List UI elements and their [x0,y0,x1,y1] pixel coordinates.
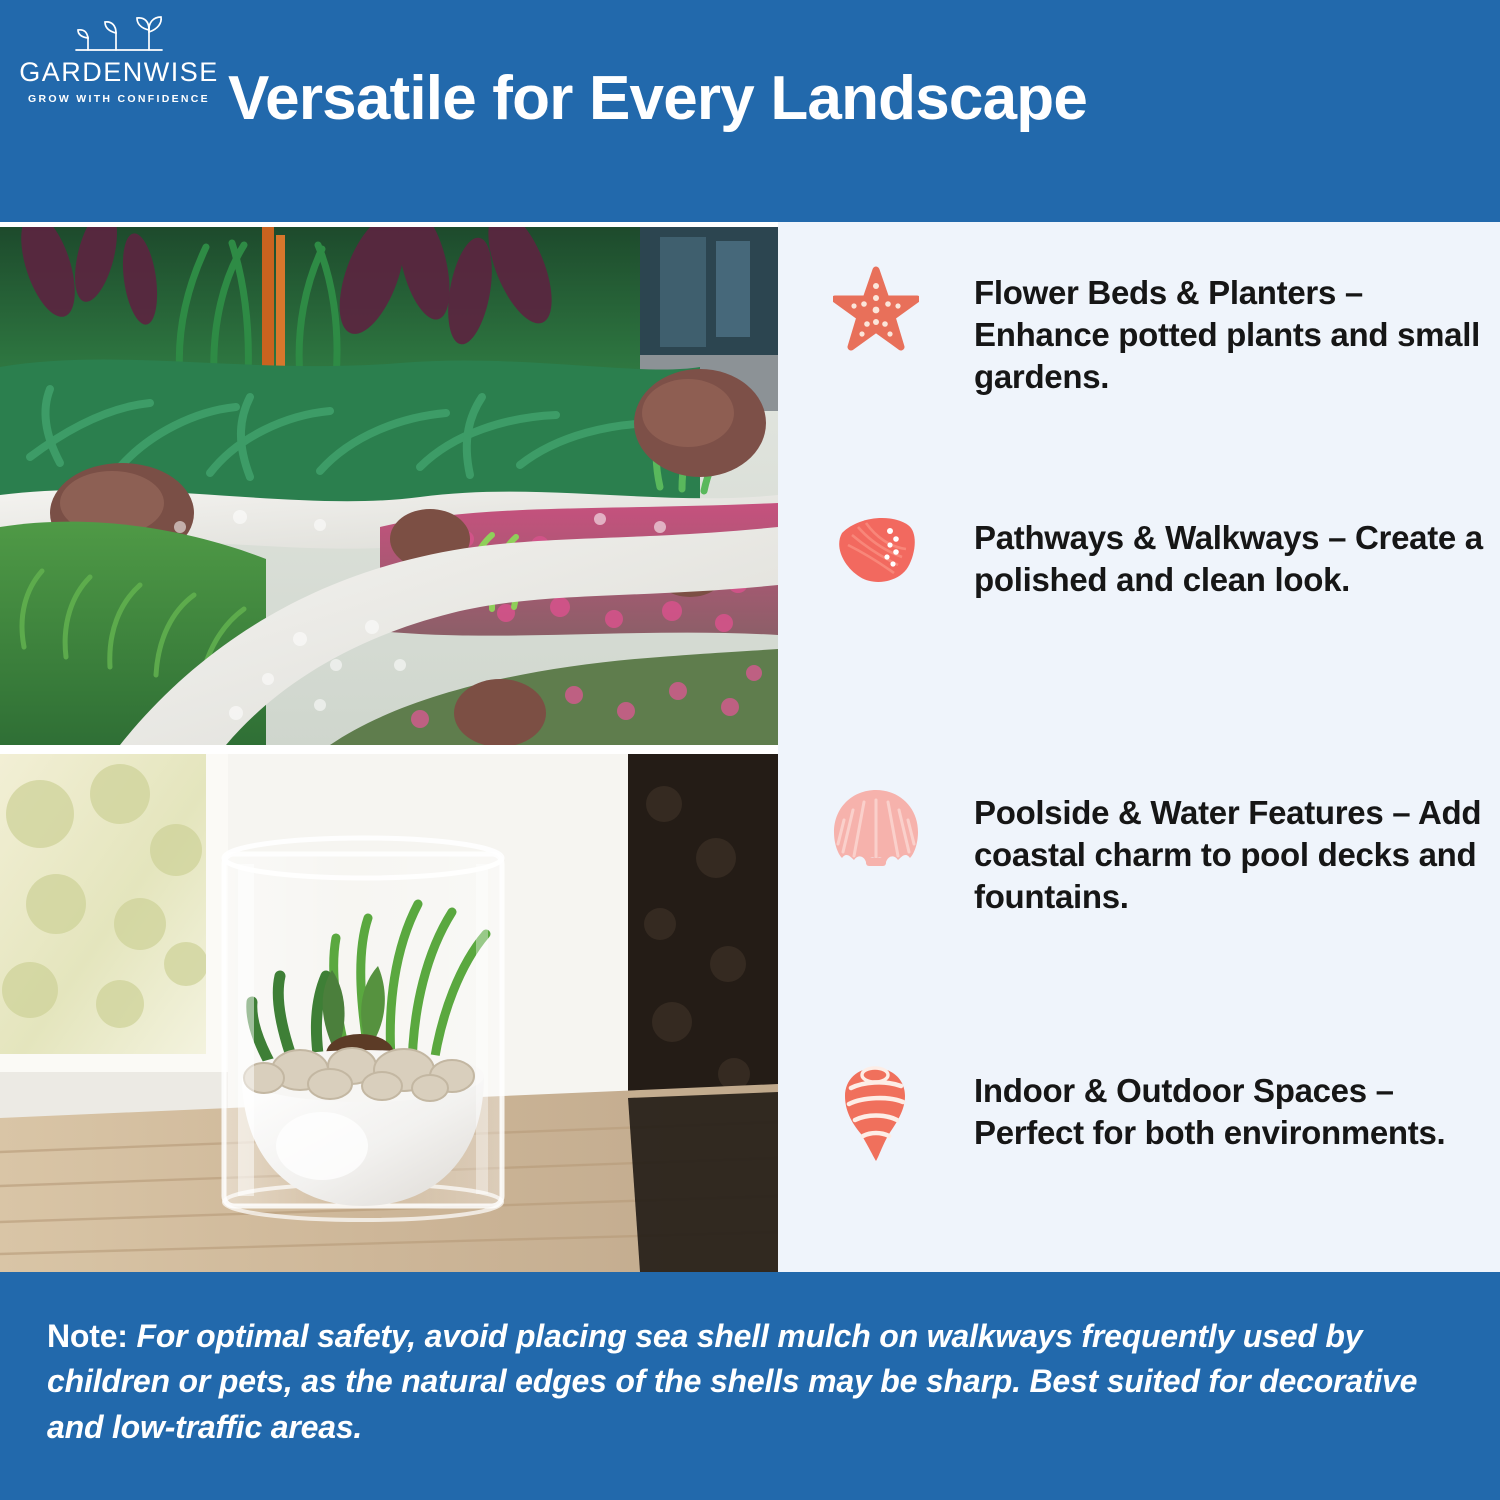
indoor-planter-photo [0,754,778,1272]
header-bar: GARDENWISE GROW WITH CONFIDENCE Versatil… [0,0,1500,222]
note-body: For optimal safety, avoid placing sea sh… [47,1318,1417,1445]
conch-shell-icon [828,1060,924,1164]
content-area: Flower Beds & Planters – Enhance potted … [0,222,1500,1272]
list-item-label: Poolside & Water Features – Add coastal … [924,782,1488,919]
brand-tagline: GROW WITH CONFIDENCE [28,93,210,105]
list-item: Pathways & Walkways – Create a polished … [828,507,1488,611]
brand-logo: GARDENWISE GROW WITH CONFIDENCE [14,14,224,106]
list-item: Poolside & Water Features – Add coastal … [828,782,1488,919]
sprouting-leaves-icon [54,14,184,58]
list-item: Flower Beds & Planters – Enhance potted … [828,262,1488,399]
clam-shell-icon [828,507,924,611]
brand-name: GARDENWISE [19,59,219,86]
footer-bar: Note: For optimal safety, avoid placing … [0,1272,1500,1500]
note-label: Note: [47,1318,128,1354]
list-item: Indoor & Outdoor Spaces – Perfect for bo… [828,1060,1488,1164]
benefits-panel: Flower Beds & Planters – Enhance potted … [778,222,1500,1272]
photo-column [0,222,778,1272]
landscaped-garden-photo [0,227,778,745]
list-item-label: Indoor & Outdoor Spaces – Perfect for bo… [924,1060,1488,1154]
list-item-label: Pathways & Walkways – Create a polished … [924,507,1488,601]
list-item-label: Flower Beds & Planters – Enhance potted … [924,262,1488,399]
scallop-shell-icon [828,782,924,886]
page-title: Versatile for Every Landscape [228,66,1488,131]
safety-note: Note: For optimal safety, avoid placing … [47,1314,1459,1450]
starfish-icon [828,262,924,366]
